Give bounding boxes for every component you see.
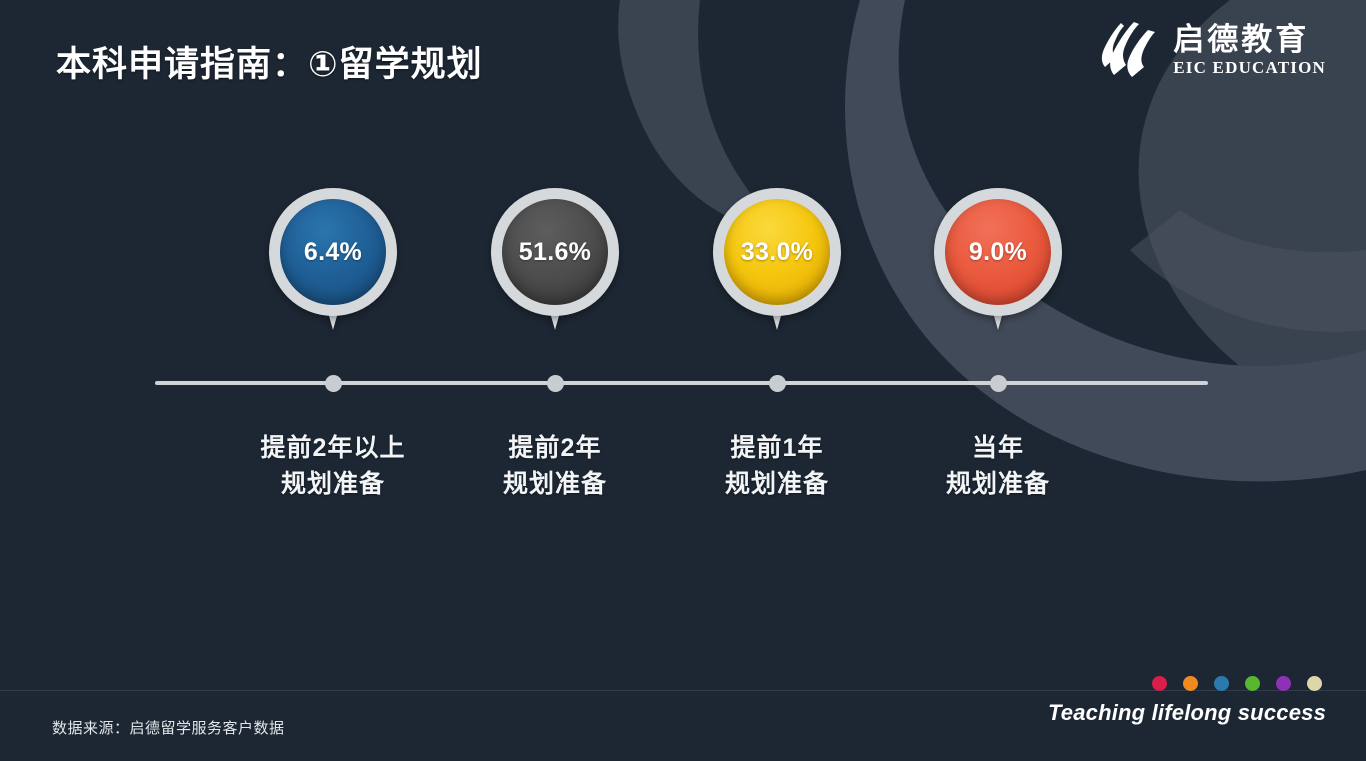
pin-label-line1: 提前2年: [425, 430, 685, 466]
pin-label-line1: 提前2年以上: [203, 430, 463, 466]
brand-dot-blue: [1214, 676, 1229, 691]
pin-value-label: 9.0%: [969, 238, 1027, 267]
pin-label-1: 提前2年以上 规划准备: [203, 430, 463, 503]
timeline-node: [769, 375, 786, 392]
pin-value-label: 6.4%: [304, 238, 362, 267]
pin-shape: 33.0%: [713, 188, 841, 316]
brand-tagline-block: Teaching lifelong success: [1048, 676, 1326, 726]
timeline-node: [547, 375, 564, 392]
pin-value-label: 51.6%: [519, 238, 591, 267]
data-pin-2: 51.6%: [485, 188, 625, 316]
pin-label-line2: 规划准备: [868, 466, 1128, 502]
timeline-axis: [155, 381, 1208, 385]
brand-dot-orange: [1183, 676, 1198, 691]
data-source-note: 数据来源：启德留学服务客户数据: [52, 717, 285, 738]
pin-value-label: 33.0%: [741, 238, 813, 267]
pin-core: 33.0%: [724, 199, 830, 305]
pin-core: 6.4%: [280, 199, 386, 305]
brand-logo: 启德教育 EIC EDUCATION: [1093, 20, 1326, 82]
data-pin-4: 9.0%: [928, 188, 1068, 316]
pin-label-line2: 规划准备: [425, 466, 685, 502]
pin-label-line1: 当年: [868, 430, 1128, 466]
pin-core: 51.6%: [502, 199, 608, 305]
page-title: 本科申请指南：①留学规划: [56, 36, 483, 87]
pin-core: 9.0%: [945, 199, 1051, 305]
brand-tagline: Teaching lifelong success: [1048, 700, 1326, 726]
logo-english-name: EIC EDUCATION: [1173, 57, 1326, 78]
brand-dot-crimson: [1152, 676, 1167, 691]
logo-chinese-name: 启德教育: [1173, 24, 1326, 57]
brand-dot-purple: [1276, 676, 1291, 691]
timeline-node: [990, 375, 1007, 392]
slide-canvas: 本科申请指南：①留学规划 启德教育 EIC EDUCATION 6.4%: [0, 0, 1366, 761]
timeline-node: [325, 375, 342, 392]
data-pin-1: 6.4%: [263, 188, 403, 316]
brand-dot-row: [1048, 676, 1326, 691]
pin-shape: 51.6%: [491, 188, 619, 316]
data-pin-3: 33.0%: [707, 188, 847, 316]
brand-dot-green: [1245, 676, 1260, 691]
pin-shape: 9.0%: [934, 188, 1062, 316]
pin-label-4: 当年 规划准备: [868, 430, 1128, 503]
eic-logo-mark-icon: [1093, 20, 1161, 82]
pin-shape: 6.4%: [269, 188, 397, 316]
pin-label-2: 提前2年 规划准备: [425, 430, 685, 503]
brand-dot-khaki: [1307, 676, 1322, 691]
pin-label-line2: 规划准备: [203, 466, 463, 502]
